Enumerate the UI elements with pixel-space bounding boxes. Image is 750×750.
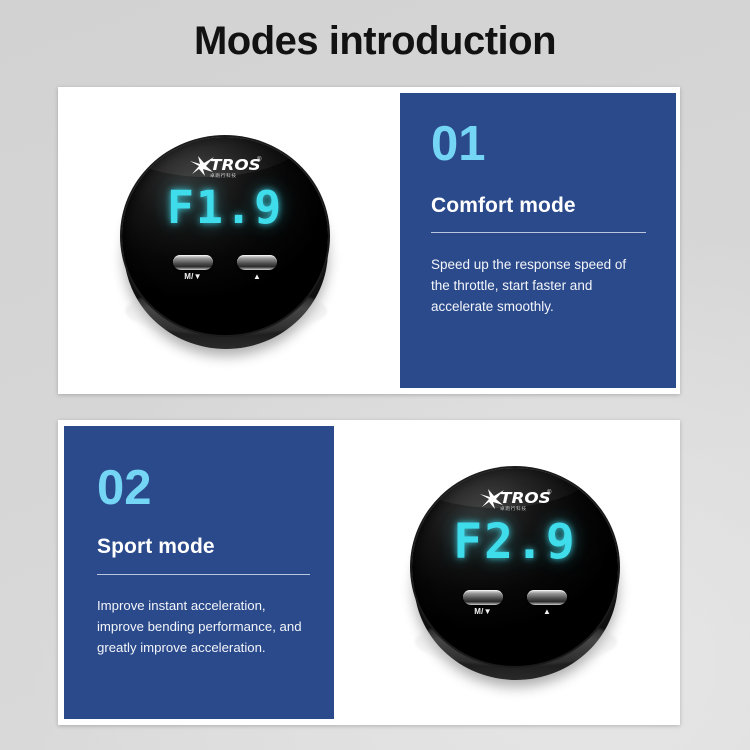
device-button-row: M/▼ ▲	[122, 255, 328, 282]
device-display-value: F1.9	[122, 185, 328, 230]
info-panel-blue: 01 Comfort mode Speed up the response sp…	[400, 93, 676, 388]
device-mode-down-button[interactable]: M/▼	[463, 590, 503, 617]
device-display-value: F2.9	[412, 518, 618, 566]
throttle-controller-device: TROS 卓跑行科技 ® F1.9 M/▼ ▲	[122, 137, 330, 345]
mode-description: Improve instant acceleration, improve be…	[97, 595, 310, 658]
device-button-row: M/▼ ▲	[412, 590, 618, 617]
brand-name-cn: 卓跑行科技	[500, 507, 548, 512]
device-image-pane: TROS 卓跑行科技 ® F2.9 M/▼ ▲	[340, 420, 680, 725]
device-up-button[interactable]: ▲	[527, 590, 567, 617]
brand-logo: TROS 卓跑行科技 ®	[122, 155, 328, 182]
mode-card-comfort: TROS 卓跑行科技 ® F1.9 M/▼ ▲	[58, 87, 680, 394]
mode-title: Sport mode	[97, 535, 310, 558]
brand-name: TROS	[500, 491, 551, 506]
page-title: Modes introduction	[0, 17, 750, 65]
registered-trademark-icon: ®	[547, 490, 551, 496]
title-divider	[97, 574, 310, 575]
mode-title: Comfort mode	[431, 194, 646, 217]
info-pane: 01 Comfort mode Speed up the response sp…	[394, 87, 680, 394]
brand-name: TROS	[210, 158, 261, 173]
throttle-controller-device: TROS 卓跑行科技 ® F2.9 M/▼ ▲	[412, 468, 620, 676]
mode-number: 02	[97, 464, 310, 513]
device-face: TROS 卓跑行科技 ® F2.9 M/▼ ▲	[412, 468, 618, 666]
title-divider	[431, 232, 646, 233]
brand-name-cn: 卓跑行科技	[210, 174, 258, 179]
mode-number: 01	[431, 120, 646, 169]
brand-wordmark: TROS 卓跑行科技	[500, 491, 545, 512]
device-mode-down-label: M/▼	[463, 607, 503, 617]
device-button-cap	[463, 590, 503, 605]
device-mode-down-button[interactable]: M/▼	[173, 255, 213, 282]
device-up-label: ▲	[527, 607, 567, 617]
registered-trademark-icon: ®	[257, 157, 261, 163]
info-panel-blue: 02 Sport mode Improve instant accelerati…	[64, 426, 334, 719]
device-up-label: ▲	[237, 272, 277, 282]
info-pane: 02 Sport mode Improve instant accelerati…	[58, 420, 340, 725]
device-image-pane: TROS 卓跑行科技 ® F1.9 M/▼ ▲	[58, 87, 394, 394]
mode-card-sport: 02 Sport mode Improve instant accelerati…	[58, 420, 680, 725]
device-face: TROS 卓跑行科技 ® F1.9 M/▼ ▲	[122, 137, 328, 335]
brand-logo: TROS 卓跑行科技 ®	[412, 488, 618, 515]
device-button-cap	[527, 590, 567, 605]
brand-wordmark: TROS 卓跑行科技	[210, 158, 255, 179]
device-up-button[interactable]: ▲	[237, 255, 277, 282]
mode-description: Speed up the response speed of the throt…	[431, 254, 646, 317]
page-root: Modes introduction TROS 卓跑行	[0, 0, 750, 750]
device-mode-down-label: M/▼	[173, 272, 213, 282]
device-button-cap	[237, 255, 277, 270]
device-button-cap	[173, 255, 213, 270]
